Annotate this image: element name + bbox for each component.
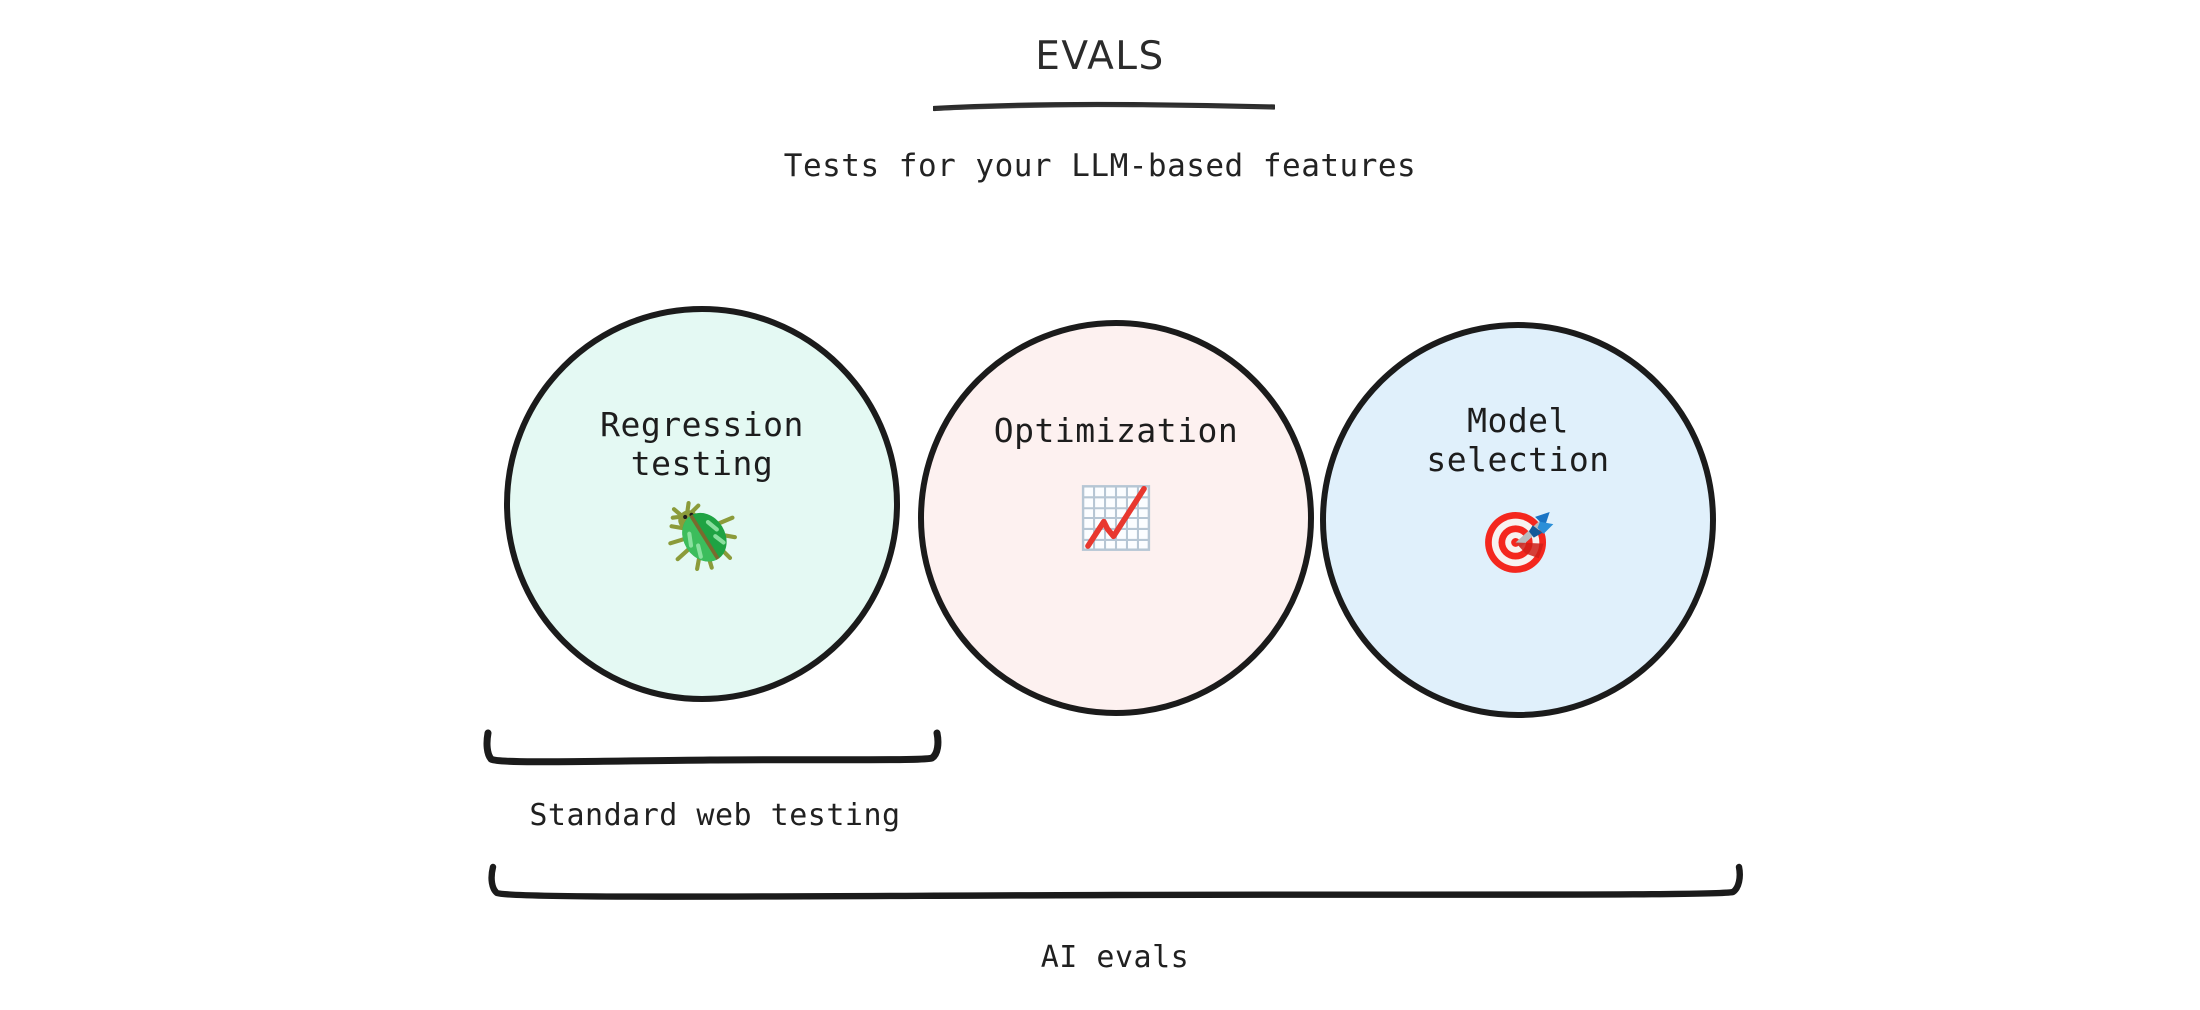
circle-optimization[interactable]: Optimization bbox=[918, 320, 1314, 716]
circle-label-line2: testing bbox=[600, 445, 804, 484]
circle-label-regression-testing: Regression testing bbox=[578, 406, 826, 483]
circle-label-line1: Model bbox=[1426, 402, 1609, 441]
circle-model-selection[interactable]: Model selection bbox=[1320, 322, 1716, 718]
page-subtitle: Tests for your LLM-based features bbox=[0, 148, 2200, 184]
circle-regression-testing[interactable]: Regression testing bbox=[504, 306, 900, 702]
circle-label-line1: Optimization bbox=[994, 412, 1238, 451]
title-underline bbox=[933, 99, 1275, 113]
bug-icon bbox=[663, 497, 741, 575]
diagram-canvas: EVALS Tests for your LLM-based features … bbox=[0, 0, 2200, 1010]
page-title: EVALS bbox=[0, 34, 2200, 79]
circle-label-line1: Regression bbox=[600, 406, 804, 445]
circle-label-model-selection: Model selection bbox=[1404, 402, 1631, 479]
circle-label-line2: selection bbox=[1426, 441, 1609, 480]
bracket-ai-evals bbox=[485, 862, 1747, 908]
bracket-label-standard-web-testing: Standard web testing bbox=[400, 798, 1030, 833]
chart-increasing-icon bbox=[1077, 479, 1155, 557]
circle-label-optimization: Optimization bbox=[972, 412, 1260, 451]
bracket-label-ai-evals: AI evals bbox=[600, 940, 1630, 975]
dart-target-icon bbox=[1479, 501, 1557, 579]
bracket-standard-web-testing bbox=[480, 728, 950, 774]
